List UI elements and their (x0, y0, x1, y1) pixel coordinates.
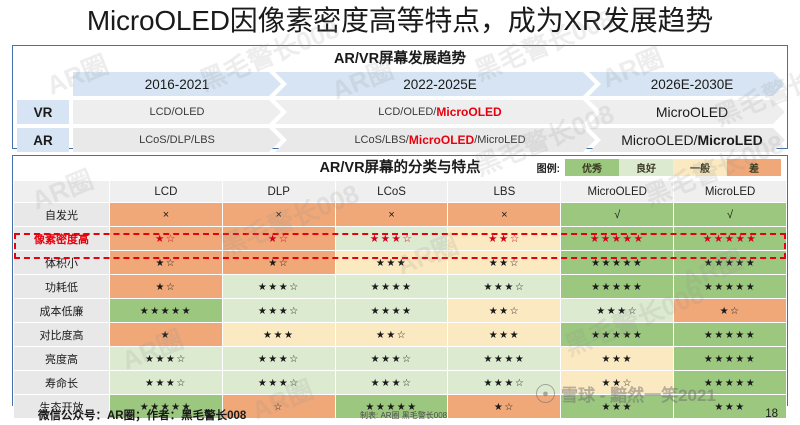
matrix-cell-r3-c3: ★★★ (335, 251, 448, 275)
rating-stars: ★★★★★ (140, 306, 192, 317)
rating-stars: ★★★★★ (704, 258, 756, 269)
matrix-cell-r6-c2: ★★★ (222, 323, 335, 347)
matrix-cell-r5-c3: ★★★★ (335, 299, 448, 323)
feature-matrix-table: LCDDLPLCoSLBSMicroOLEDMicroLED 自发光××××√√… (13, 180, 787, 419)
rating-stars: ★★★★★ (590, 233, 645, 245)
rating-stars: ★★★★ (371, 306, 413, 317)
matrix-cell-r2-c1: ★☆ (110, 227, 223, 251)
matrix-cell-r7-c5: ★★★ (561, 347, 674, 371)
matrix-tbody: 自发光××××√√像素密度高★☆★☆★★★☆★★☆★★★★★★★★★★体积小★☆… (14, 203, 787, 419)
trend-cell-r1-c2: LCD/OLED/MicroOLED (275, 100, 595, 124)
matrix-row-label-4: 功耗低 (14, 275, 110, 299)
rating-stars: ★☆ (155, 258, 176, 269)
matrix-cell-r7-c6: ★★★★★ (674, 347, 787, 371)
matrix-row-label-3: 体积小 (14, 251, 110, 275)
rating-stars: ★☆ (155, 233, 177, 245)
rating-stars: ★★★☆ (370, 233, 414, 245)
table-row: 像素密度高★☆★☆★★★☆★★☆★★★★★★★★★★ (14, 227, 787, 251)
matrix-cell-r4-c1: ★☆ (110, 275, 223, 299)
rating-stars: ★☆ (155, 282, 176, 293)
trend-header-row: 2016-20212022-2025E2026E-2030E (13, 72, 787, 98)
rating-stars: ★★★☆ (258, 282, 300, 293)
trend-period-header-3: 2026E-2030E (589, 72, 785, 96)
trend-cell-r2-c1: LCoS/DLP/LBS (73, 128, 281, 152)
table-row: 成本低廉★★★★★★★★☆★★★★★★☆★★★☆★☆ (14, 299, 787, 323)
trend-text-segment: MicroOLED (436, 105, 501, 119)
trend-text-segment: MicroOLED (656, 104, 728, 120)
trend-period-header-2: 2022-2025E (275, 72, 595, 96)
rating-stars: ★★★ (263, 330, 294, 341)
trend-text-segment: /MicroLED (474, 134, 525, 146)
footer-author: 微信公众号：AR圈；作者：黑毛警长008 (38, 407, 246, 423)
trend-panel: AR/VR屏幕发展趋势 2016-20212022-2025E2026E-203… (12, 45, 788, 149)
rating-stars: ★★★★★ (704, 330, 756, 341)
matrix-row-label-6: 对比度高 (14, 323, 110, 347)
matrix-cell-r2-c6: ★★★★★ (674, 227, 787, 251)
matrix-row-label-1: 自发光 (14, 203, 110, 227)
matrix-cell-r5-c5: ★★★☆ (561, 299, 674, 323)
trend-period-header-1: 2016-2021 (73, 72, 281, 96)
rating-mark: × (163, 209, 169, 221)
rating-stars: ★★★★★ (591, 330, 643, 341)
rating-stars: ★★☆ (376, 330, 407, 341)
legend-label: 图例: (537, 160, 560, 175)
trend-text-segment: LCD/OLED/ (378, 106, 436, 118)
matrix-cell-r5-c1: ★★★★★ (110, 299, 223, 323)
matrix-col-header-microoled: MicroOLED (561, 181, 674, 203)
rating-stars: ★☆ (268, 258, 289, 269)
matrix-cell-r5-c2: ★★★☆ (222, 299, 335, 323)
rating-stars: ★★★ (376, 258, 407, 269)
rating-stars: ★★★★★ (704, 354, 756, 365)
matrix-cell-r8-c6: ★★★★★ (674, 371, 787, 395)
trend-panel-title: AR/VR屏幕发展趋势 (13, 46, 787, 70)
matrix-col-header-lcd: LCD (110, 181, 223, 203)
table-row: 功耗低★☆★★★☆★★★★★★★☆★★★★★★★★★★ (14, 275, 787, 299)
rating-stars: ★★★★★ (704, 282, 756, 293)
matrix-cell-r6-c6: ★★★★★ (674, 323, 787, 347)
matrix-col-header-lcos: LCoS (335, 181, 448, 203)
trend-text-segment: MicroLED (697, 132, 762, 148)
matrix-col-header-lbs: LBS (448, 181, 561, 203)
matrix-cell-r6-c3: ★★☆ (335, 323, 448, 347)
rating-stars: ★★★☆ (258, 378, 300, 389)
matrix-cell-r1-c1: × (110, 203, 223, 227)
rating-stars: ★☆ (268, 233, 290, 245)
rating-stars: ★ (161, 330, 171, 341)
matrix-cell-r2-c5: ★★★★★ (561, 227, 674, 251)
rating-stars: ★★★☆ (145, 378, 187, 389)
matrix-cell-r7-c2: ★★★☆ (222, 347, 335, 371)
trend-text-segment: LCoS/LBS/ (354, 134, 408, 146)
rating-stars: ★★★☆ (483, 378, 525, 389)
matrix-col-header-dlp: DLP (222, 181, 335, 203)
matrix-cell-r6-c5: ★★★★★ (561, 323, 674, 347)
matrix-cell-r2-c3: ★★★☆ (335, 227, 448, 251)
rating-stars: ★★☆ (488, 233, 521, 245)
matrix-row-label-2: 像素密度高 (14, 227, 110, 251)
table-row: 亮度高★★★☆★★★☆★★★☆★★★★★★★★★★★★ (14, 347, 787, 371)
rating-stars: ★★★★ (483, 354, 525, 365)
matrix-header-row: LCDDLPLCoSLBSMicroOLEDMicroLED (14, 181, 787, 203)
matrix-cell-r4-c6: ★★★★★ (674, 275, 787, 299)
trend-cell-r2-c2: LCoS/LBS/MicroOLED/MicroLED (275, 128, 595, 152)
page-number: 18 (765, 408, 778, 420)
rating-stars: ★★★☆ (258, 354, 300, 365)
matrix-cell-r4-c4: ★★★☆ (448, 275, 561, 299)
trend-row-label-vr: VR (17, 100, 69, 124)
matrix-cell-r3-c1: ★☆ (110, 251, 223, 275)
matrix-cell-r4-c3: ★★★★ (335, 275, 448, 299)
matrix-cell-r2-c4: ★★☆ (448, 227, 561, 251)
matrix-cell-r1-c2: × (222, 203, 335, 227)
trend-rows: VRLCD/OLEDLCD/OLED/MicroOLEDMicroOLEDARL… (13, 100, 787, 154)
rating-mark: √ (614, 209, 620, 221)
matrix-row-label-7: 亮度高 (14, 347, 110, 371)
rating-mark: × (276, 209, 282, 221)
matrix-cell-r8-c2: ★★★☆ (222, 371, 335, 395)
rating-stars: ★★★★★ (591, 282, 643, 293)
matrix-cell-r4-c2: ★★★☆ (222, 275, 335, 299)
rating-stars: ★★☆ (489, 306, 520, 317)
rating-stars: ★★★☆ (596, 306, 638, 317)
matrix-row-label-5: 成本低廉 (14, 299, 110, 323)
matrix-cell-r1-c3: × (335, 203, 448, 227)
rating-stars: ★★★★★ (703, 233, 758, 245)
legend: 图例: 优秀良好一般差 (537, 159, 781, 176)
matrix-cell-r3-c5: ★★★★★ (561, 251, 674, 275)
trend-row-vr: VRLCD/OLEDLCD/OLED/MicroOLEDMicroOLED (13, 100, 787, 126)
matrix-cell-r8-c5: ★★☆ (561, 371, 674, 395)
legend-swatches: 优秀良好一般差 (565, 159, 781, 176)
legend-swatch-一般: 一般 (673, 159, 727, 176)
trend-text-segment: MicroOLED (409, 133, 474, 147)
rating-stars: ★★★★★ (591, 258, 643, 269)
matrix-cell-r1-c5: √ (561, 203, 674, 227)
rating-stars: ★★★ (602, 354, 633, 365)
matrix-corner-cell (14, 181, 110, 203)
matrix-col-header-microled: MicroLED (674, 181, 787, 203)
matrix-cell-r7-c3: ★★★☆ (335, 347, 448, 371)
matrix-cell-r4-c5: ★★★★★ (561, 275, 674, 299)
matrix-cell-r1-c6: √ (674, 203, 787, 227)
rating-stars: ★★☆ (489, 258, 520, 269)
matrix-cell-r3-c6: ★★★★★ (674, 251, 787, 275)
matrix-cell-r6-c4: ★★★ (448, 323, 561, 347)
matrix-cell-r3-c2: ★☆ (222, 251, 335, 275)
matrix-cell-r3-c4: ★★☆ (448, 251, 561, 275)
rating-mark: × (388, 209, 394, 221)
trend-row-label-ar: AR (17, 128, 69, 152)
matrix-cell-r6-c1: ★ (110, 323, 223, 347)
trend-text-segment: LCD/OLED (149, 106, 204, 118)
matrix-cell-r1-c4: × (448, 203, 561, 227)
trend-text-segment: MicroOLED/ (621, 132, 697, 148)
matrix-cell-r8-c4: ★★★☆ (448, 371, 561, 395)
table-row: 体积小★☆★☆★★★★★☆★★★★★★★★★★ (14, 251, 787, 275)
matrix-header: AR/VR屏幕的分类与特点 图例: 优秀良好一般差 (13, 156, 787, 180)
matrix-thead: LCDDLPLCoSLBSMicroOLEDMicroLED (14, 181, 787, 203)
table-row: 寿命长★★★☆★★★☆★★★☆★★★☆★★☆★★★★★ (14, 371, 787, 395)
matrix-cell-r2-c2: ★☆ (222, 227, 335, 251)
matrix-cell-r8-c3: ★★★☆ (335, 371, 448, 395)
matrix-cell-r8-c1: ★★★☆ (110, 371, 223, 395)
legend-swatch-良好: 良好 (619, 159, 673, 176)
rating-stars: ★★★☆ (258, 306, 300, 317)
rating-stars: ★★★☆ (371, 354, 413, 365)
rating-stars: ★★★ (489, 330, 520, 341)
matrix-panel: AR/VR屏幕的分类与特点 图例: 优秀良好一般差 LCDDLPLCoSLBSM… (12, 155, 788, 406)
rating-mark: × (501, 209, 507, 221)
trend-cell-r2-c3: MicroOLED/MicroLED (589, 128, 785, 152)
trend-cell-r1-c3: MicroOLED (589, 100, 785, 124)
trend-cell-r1-c1: LCD/OLED (73, 100, 281, 124)
matrix-cell-r7-c1: ★★★☆ (110, 347, 223, 371)
rating-stars: ★☆ (720, 306, 741, 317)
rating-stars: ★★★☆ (483, 282, 525, 293)
rating-stars: ★★★☆ (145, 354, 187, 365)
footer: 微信公众号：AR圈；作者：黑毛警长008 制表: AR圈 黑毛警长008 18 (0, 406, 800, 425)
matrix-row-label-8: 寿命长 (14, 371, 110, 395)
rating-stars: ★★★☆ (371, 378, 413, 389)
rating-stars: ★★☆ (602, 378, 633, 389)
page-title: MicroOLED因像素密度高等特点，成为XR发展趋势 (0, 2, 800, 40)
legend-swatch-差: 差 (727, 159, 781, 176)
matrix-cell-r7-c4: ★★★★ (448, 347, 561, 371)
trend-row-ar: ARLCoS/DLP/LBSLCoS/LBS/MicroOLED/MicroLE… (13, 128, 787, 154)
rating-stars: ★★★★ (371, 282, 413, 293)
matrix-cell-r5-c6: ★☆ (674, 299, 787, 323)
table-row: 对比度高★★★★★★☆★★★★★★★★★★★★★ (14, 323, 787, 347)
footer-credit: 制表: AR圈 黑毛警长008 (360, 410, 447, 421)
slide-page: AR圈黑毛警长008AR圈黑毛警长008AR圈黑毛警长008AR圈黑毛警长008… (0, 0, 800, 425)
legend-swatch-优秀: 优秀 (565, 159, 619, 176)
trend-text-segment: LCoS/DLP/LBS (139, 134, 215, 146)
table-row: 自发光××××√√ (14, 203, 787, 227)
rating-mark: √ (727, 209, 733, 221)
rating-stars: ★★★★★ (704, 378, 756, 389)
matrix-cell-r5-c4: ★★☆ (448, 299, 561, 323)
